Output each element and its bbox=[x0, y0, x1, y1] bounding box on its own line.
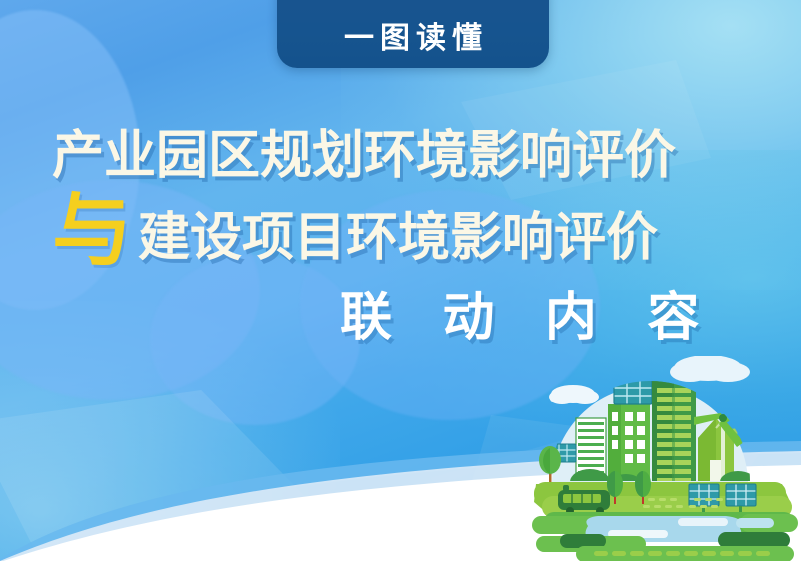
ground-dark-patch-left bbox=[560, 534, 606, 548]
title-line-1: 产业园区规划环境影响评价 bbox=[52, 130, 676, 182]
title-line-3: 联 动 内 容 bbox=[322, 292, 717, 344]
background-facet-1 bbox=[0, 390, 310, 561]
ground-dark-patch-right bbox=[718, 532, 790, 548]
title-row-2: 与 建设项目环境影响评价 bbox=[52, 200, 658, 258]
top-banner-label: 一图读懂 bbox=[338, 24, 488, 54]
eco-city-svg bbox=[530, 356, 801, 561]
rooftop-solar-panel-icon bbox=[614, 380, 652, 404]
lake-highlight-1 bbox=[678, 518, 728, 526]
title-conjunction: 与 bbox=[52, 200, 132, 262]
infographic-poster: 一图读懂 产业园区规划环境影响评价 与 建设项目环境影响评价 联 动 内 容 bbox=[0, 0, 801, 561]
title-line-2: 建设项目环境影响评价 bbox=[138, 212, 658, 264]
lake-highlight-3 bbox=[736, 518, 774, 528]
top-banner-tab: 一图读懂 bbox=[277, 0, 549, 68]
high-rise-tower bbox=[652, 370, 696, 486]
eco-city-illustration bbox=[530, 356, 801, 561]
background-wash-bottom-left bbox=[0, 301, 340, 561]
